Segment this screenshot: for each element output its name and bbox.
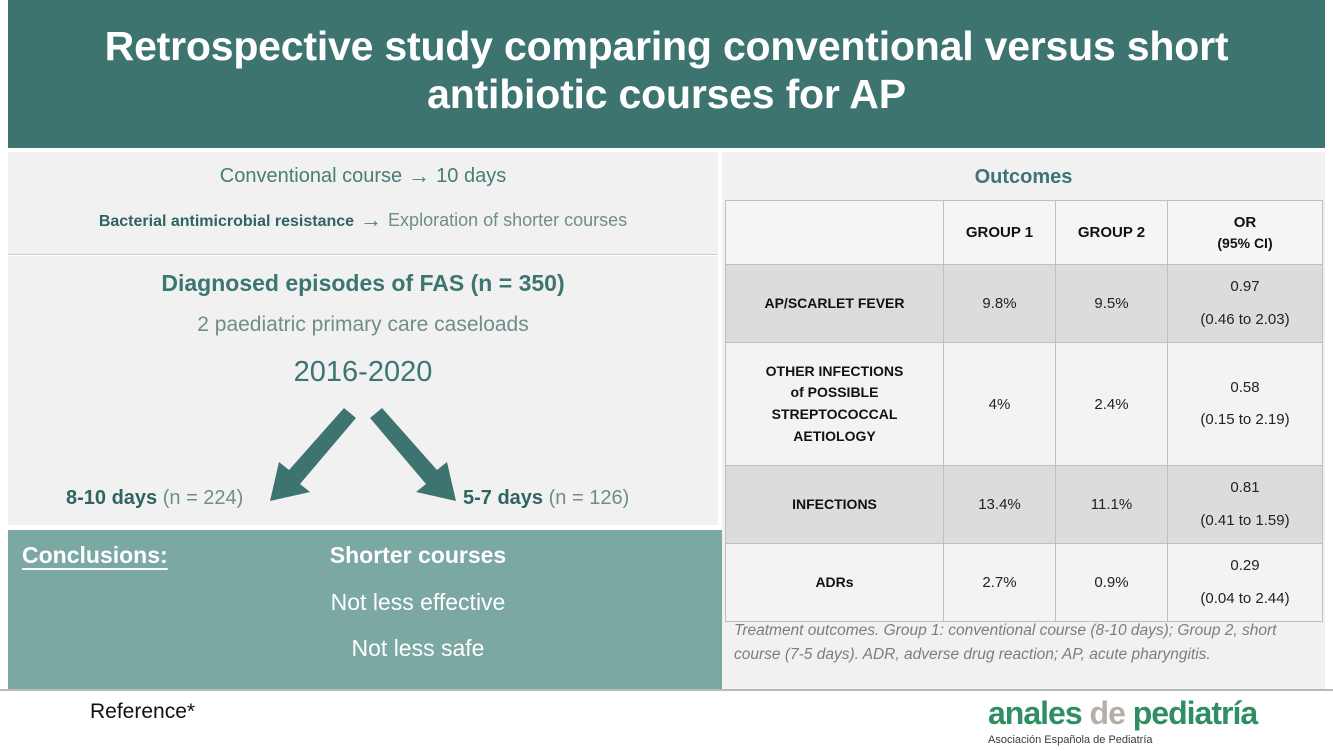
logo-word-de: de	[1090, 695, 1125, 731]
group-right-label: 5-7 days	[463, 487, 543, 509]
table-row: INFECTIONS 13.4% 11.1% 0.81 (0.41 to 1.5…	[726, 466, 1323, 544]
row-or-ci: (0.15 to 2.19)	[1168, 412, 1322, 429]
table-row: OTHER INFECTIONS of POSSIBLE STREPTOCOCC…	[726, 343, 1323, 466]
column-header-group2: GROUP 2	[1056, 201, 1168, 265]
split-arrows-icon	[248, 404, 478, 509]
row-group1-value: 4%	[944, 343, 1056, 466]
page-title: Retrospective study comparing convention…	[48, 23, 1285, 118]
row-or-value: 0.97 (0.46 to 2.03)	[1168, 265, 1323, 343]
conclusion-item-1: Shorter courses	[8, 542, 718, 569]
group-right-count: (n = 126)	[549, 487, 630, 509]
table-caption: Treatment outcomes. Group 1: conventiona…	[734, 619, 1314, 667]
row-outcome-name: ADRs	[726, 544, 944, 622]
conclusions-edge-accent	[714, 530, 722, 689]
intro-resistance-value: Exploration of shorter courses	[388, 210, 627, 230]
row-outcome-name: INFECTIONS	[726, 466, 944, 544]
group-left-label: 8-10 days	[66, 487, 157, 509]
journal-logo-wordmark: anales de pediatría	[988, 697, 1328, 729]
cohort-years: 2016-2020	[8, 356, 718, 389]
arrow-right-icon: →	[354, 207, 388, 232]
journal-logo-subtitle: Asociación Española de Pediatría	[988, 734, 1328, 746]
row-group1-value: 2.7%	[944, 544, 1056, 622]
column-header-or-line2: (95% CI)	[1168, 235, 1322, 251]
left-column: Conventional course→10 days Bacterial an…	[8, 152, 718, 689]
right-column: Outcomes GROUP 1 GROUP 2 OR (95% CI)	[722, 152, 1325, 689]
intro-conventional-label: Conventional course	[220, 165, 402, 187]
outcomes-heading: Outcomes	[722, 166, 1325, 189]
row-or-value: 0.58 (0.15 to 2.19)	[1168, 343, 1323, 466]
conclusion-item-3: Not less safe	[8, 635, 718, 662]
outcomes-table: GROUP 1 GROUP 2 OR (95% CI) AP/SCARLET F…	[725, 200, 1323, 622]
intro-panel: Conventional course→10 days Bacterial an…	[8, 152, 718, 255]
group-left: 8-10 days (n = 224)	[66, 487, 243, 510]
logo-word-anales: anales	[988, 695, 1082, 731]
intro-resistance-label: Bacterial antimicrobial resistance	[99, 213, 354, 230]
table-header: GROUP 1 GROUP 2 OR (95% CI)	[726, 201, 1323, 265]
cohort-panel: Diagnosed episodes of FAS (n = 350) 2 pa…	[8, 256, 718, 525]
column-header-or: OR (95% CI)	[1168, 201, 1323, 265]
column-header-or-line1: OR	[1168, 214, 1322, 231]
row-or-ci: (0.46 to 2.03)	[1168, 312, 1322, 329]
group-left-count: (n = 224)	[163, 487, 244, 509]
column-header-outcome	[726, 201, 944, 265]
row-group2-value: 11.1%	[1056, 466, 1168, 544]
title-banner: Retrospective study comparing convention…	[8, 0, 1325, 148]
row-or-estimate: 0.29	[1168, 558, 1322, 575]
row-or-estimate: 0.81	[1168, 480, 1322, 497]
arrow-right-icon: →	[402, 163, 436, 188]
reference-text: Reference*	[90, 700, 195, 724]
group-right: 5-7 days (n = 126)	[463, 487, 629, 510]
table-body: AP/SCARLET FEVER 9.8% 9.5% 0.97 (0.46 to…	[726, 265, 1323, 622]
row-or-ci: (0.04 to 2.44)	[1168, 591, 1322, 608]
table-header-row: GROUP 1 GROUP 2 OR (95% CI)	[726, 201, 1323, 265]
conclusions-panel: Conclusions: Shorter courses Not less ef…	[8, 530, 718, 689]
row-or-value: 0.81 (0.41 to 1.59)	[1168, 466, 1323, 544]
row-outcome-name: AP/SCARLET FEVER	[726, 265, 944, 343]
row-group2-value: 0.9%	[1056, 544, 1168, 622]
intro-conventional-value: 10 days	[436, 165, 506, 187]
cohort-title: Diagnosed episodes of FAS (n = 350)	[8, 270, 718, 297]
infographic-slide: Retrospective study comparing convention…	[0, 0, 1333, 751]
row-or-estimate: 0.97	[1168, 279, 1322, 296]
table-row: AP/SCARLET FEVER 9.8% 9.5% 0.97 (0.46 to…	[726, 265, 1323, 343]
cohort-subtitle: 2 paediatric primary care caseloads	[8, 313, 718, 337]
row-group1-value: 9.8%	[944, 265, 1056, 343]
intro-line-conventional: Conventional course→10 days	[8, 163, 718, 189]
row-or-value: 0.29 (0.04 to 2.44)	[1168, 544, 1323, 622]
table-row: ADRs 2.7% 0.9% 0.29 (0.04 to 2.44)	[726, 544, 1323, 622]
conclusion-item-2: Not less effective	[8, 589, 718, 616]
journal-logo: anales de pediatría Asociación Española …	[988, 697, 1328, 751]
row-outcome-name: OTHER INFECTIONS of POSSIBLE STREPTOCOCC…	[726, 343, 944, 466]
row-group2-value: 2.4%	[1056, 343, 1168, 466]
intro-line-resistance: Bacterial antimicrobial resistance→Explo…	[8, 207, 718, 233]
column-header-group1: GROUP 1	[944, 201, 1056, 265]
row-or-estimate: 0.58	[1168, 380, 1322, 397]
row-group1-value: 13.4%	[944, 466, 1056, 544]
footer-divider	[0, 689, 1333, 691]
logo-word-pediatria: pediatría	[1133, 695, 1257, 731]
row-or-ci: (0.41 to 1.59)	[1168, 513, 1322, 530]
row-group2-value: 9.5%	[1056, 265, 1168, 343]
